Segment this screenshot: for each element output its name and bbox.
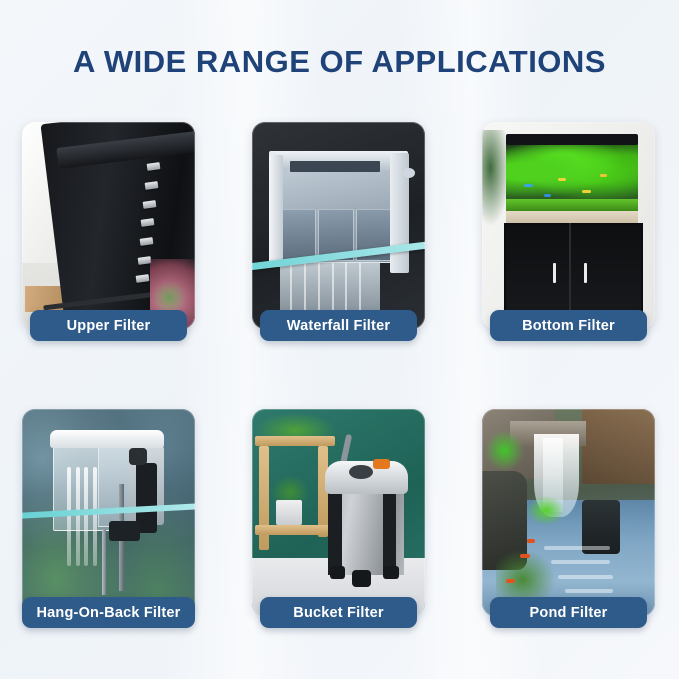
card-upper-filter[interactable]: Upper Filter — [22, 122, 195, 329]
card-label-hang-on-back-filter: Hang-On-Back Filter — [22, 597, 195, 628]
card-label-pond-filter: Pond Filter — [490, 597, 647, 628]
card-waterfall-filter[interactable]: Waterfall Filter — [252, 122, 425, 329]
card-label-bottom-filter: Bottom Filter — [490, 310, 647, 341]
card-pond-filter[interactable]: Pond Filter — [482, 409, 655, 616]
card-row-bottom: Hang-On-Back Filter — [0, 409, 679, 639]
application-card-grid: Upper Filter — [0, 122, 679, 639]
card-bucket-filter[interactable]: Bucket Filter — [252, 409, 425, 616]
card-row-top: Upper Filter — [0, 122, 679, 352]
page-title: A WIDE RANGE OF APPLICATIONS — [0, 44, 679, 80]
hang-on-back-filter-photo — [22, 409, 195, 616]
upper-filter-photo — [22, 122, 195, 329]
application-poster: A WIDE RANGE OF APPLICATIONS — [0, 0, 679, 679]
bottom-filter-photo — [482, 122, 655, 329]
card-hang-on-back-filter[interactable]: Hang-On-Back Filter — [22, 409, 195, 616]
waterfall-filter-photo — [252, 122, 425, 329]
pond-filter-photo — [482, 409, 655, 616]
card-label-upper-filter: Upper Filter — [30, 310, 187, 341]
bucket-filter-photo — [252, 409, 425, 616]
card-label-bucket-filter: Bucket Filter — [260, 597, 417, 628]
card-label-waterfall-filter: Waterfall Filter — [260, 310, 417, 341]
card-bottom-filter[interactable]: Bottom Filter — [482, 122, 655, 329]
